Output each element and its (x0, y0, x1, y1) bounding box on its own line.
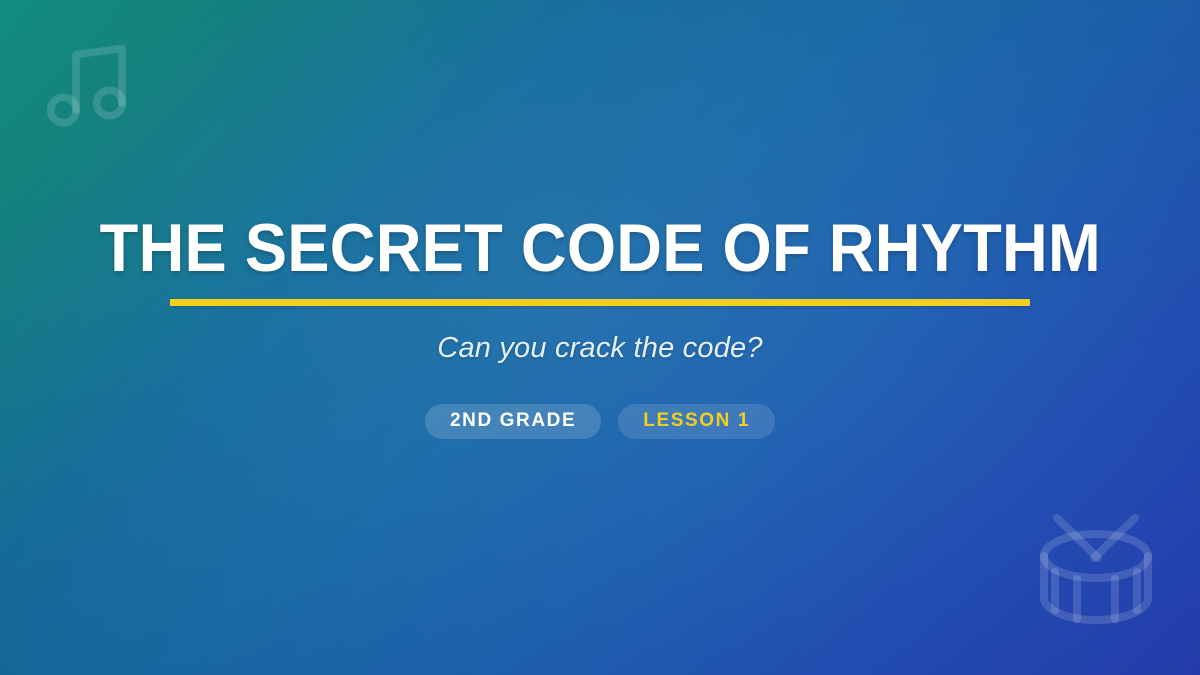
slide-subtitle: Can you crack the code? (437, 331, 762, 366)
lesson-badge: LESSON 1 (618, 404, 775, 439)
grade-badge: 2ND GRADE (425, 404, 601, 439)
title-underline-accent (170, 299, 1030, 306)
badge-group: 2ND GRADE LESSON 1 (425, 404, 775, 439)
title-slide: THE SECRET CODE OF RHYTHM Can you crack … (0, 0, 1200, 675)
slide-content: THE SECRET CODE OF RHYTHM Can you crack … (0, 0, 1200, 675)
page-title: THE SECRET CODE OF RHYTHM (99, 214, 1100, 282)
